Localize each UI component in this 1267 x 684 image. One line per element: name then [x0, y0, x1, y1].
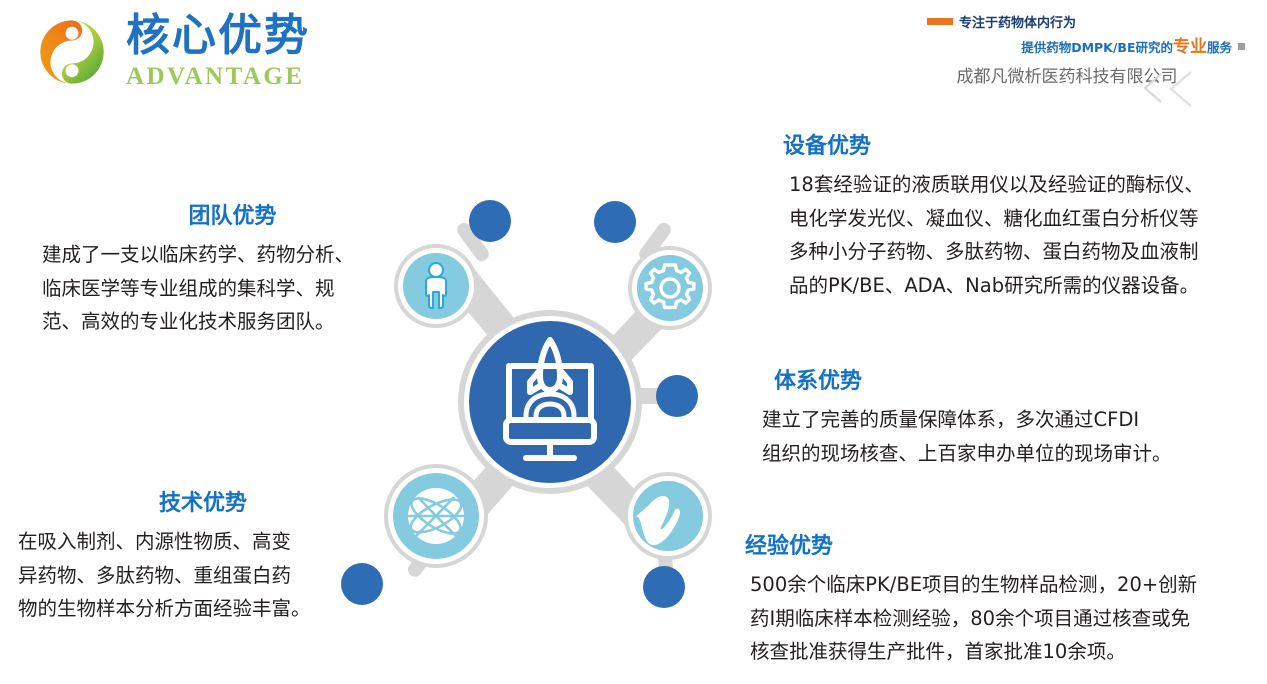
- block-body-experience: 500余个临床PK/BE项目的生物样品检测，20+创新 药I期临床样本检测经验，…: [740, 568, 1255, 669]
- advantage-block-experience: 经验优势 500余个临床PK/BE项目的生物样品检测，20+创新 药I期临床样本…: [740, 528, 1255, 669]
- diagram-center-hub[interactable]: [469, 321, 631, 483]
- brand-block: 核心优势 ADVANTAGE: [36, 14, 310, 89]
- text-line: 电化学发光仪、凝血仪、糖化血红蛋白分析仪等: [789, 202, 1258, 236]
- tagline-line-2: 提供药物DMPK/BE研究的专业服务: [917, 32, 1247, 57]
- text-line: 建立了完善的质量保障体系，多次通过CFDI: [762, 403, 1252, 437]
- tagline-line-1: 专注于药物体内行为: [927, 12, 1247, 31]
- page-title: 核心优势: [126, 14, 310, 58]
- diagram-node-person[interactable]: [403, 253, 469, 319]
- text-line: 异药物、多肽药物、重组蛋白药: [18, 559, 378, 593]
- text-line: 药I期临床样本检测经验，80余个项目通过核查或免: [750, 602, 1255, 636]
- advantage-block-tech: 技术优势 在吸入制剂、内源性物质、高变 异药物、多肽药物、重组蛋白药 物的生物样…: [18, 485, 378, 626]
- block-title-system: 体系优势: [752, 363, 1252, 395]
- diagram-node-globe[interactable]: [393, 473, 479, 559]
- text-line: 多种小分子药物、多肽药物、蛋白药物及血液制: [789, 235, 1258, 269]
- orange-bar-marker: [927, 18, 953, 25]
- block-title-equipment: 设备优势: [783, 128, 1258, 160]
- text-line: 18套经验证的液质联用仪以及经验证的酶标仪、: [789, 168, 1258, 202]
- text-line: 组织的现场核查、上百家申办单位的现场审计。: [762, 437, 1252, 471]
- page-header: 核心优势 ADVANTAGE 专注于药物体内行为 提供药物DMPK/BE研究的专…: [0, 0, 1267, 110]
- tagline-line-2-suffix: 服务: [1207, 40, 1232, 55]
- brand-titles: 核心优势 ADVANTAGE: [126, 14, 310, 89]
- double-chevron-left-icon: [1139, 68, 1209, 108]
- hub-and-spoke-diagram: [340, 180, 760, 620]
- dot-top-left[interactable]: [469, 200, 511, 242]
- gray-square-marker: [1238, 43, 1245, 50]
- dot-bottom-left[interactable]: [341, 563, 383, 605]
- block-body-tech: 在吸入制剂、内源性物质、高变 异药物、多肽药物、重组蛋白药 物的生物样本分析方面…: [18, 525, 378, 626]
- text-line: 物的生物样本分析方面经验丰富。: [18, 592, 378, 626]
- dot-right[interactable]: [656, 375, 698, 417]
- tagline-line-1-text: 专注于药物体内行为: [959, 12, 1076, 31]
- text-line: 品的PK/BE、ADA、Nab研究所需的仪器设备。: [789, 269, 1258, 303]
- block-body-system: 建立了完善的质量保障体系，多次通过CFDI 组织的现场核查、上百家申办单位的现场…: [752, 403, 1252, 470]
- dot-top-right[interactable]: [594, 201, 636, 243]
- tagline-line-2-prefix: 提供药物DMPK/BE研究的: [1021, 40, 1173, 55]
- dot-bottom-right[interactable]: [643, 566, 685, 608]
- diagram-node-v[interactable]: [633, 481, 703, 551]
- page-subtitle-en: ADVANTAGE: [126, 64, 310, 89]
- advantage-block-equipment: 设备优势 18套经验证的液质联用仪以及经验证的酶标仪、 电化学发光仪、凝血仪、糖…: [783, 128, 1258, 302]
- text-line: 在吸入制剂、内源性物质、高变: [18, 525, 378, 559]
- text-line: 500余个临床PK/BE项目的生物样品检测，20+创新: [750, 568, 1255, 602]
- company-circular-gradient-logo: [36, 16, 108, 88]
- tagline-line-2-accent: 专业: [1173, 37, 1207, 57]
- diagram-node-gear[interactable]: [637, 255, 703, 321]
- text-line: 核查批准获得生产批件，首家批准10余项。: [750, 635, 1255, 669]
- block-title-experience: 经验优势: [740, 528, 1255, 560]
- block-body-equipment: 18套经验证的液质联用仪以及经验证的酶标仪、 电化学发光仪、凝血仪、糖化血红蛋白…: [783, 168, 1258, 302]
- block-title-tech: 技术优势: [18, 485, 378, 517]
- advantage-block-system: 体系优势 建立了完善的质量保障体系，多次通过CFDI 组织的现场核查、上百家申办…: [752, 363, 1252, 470]
